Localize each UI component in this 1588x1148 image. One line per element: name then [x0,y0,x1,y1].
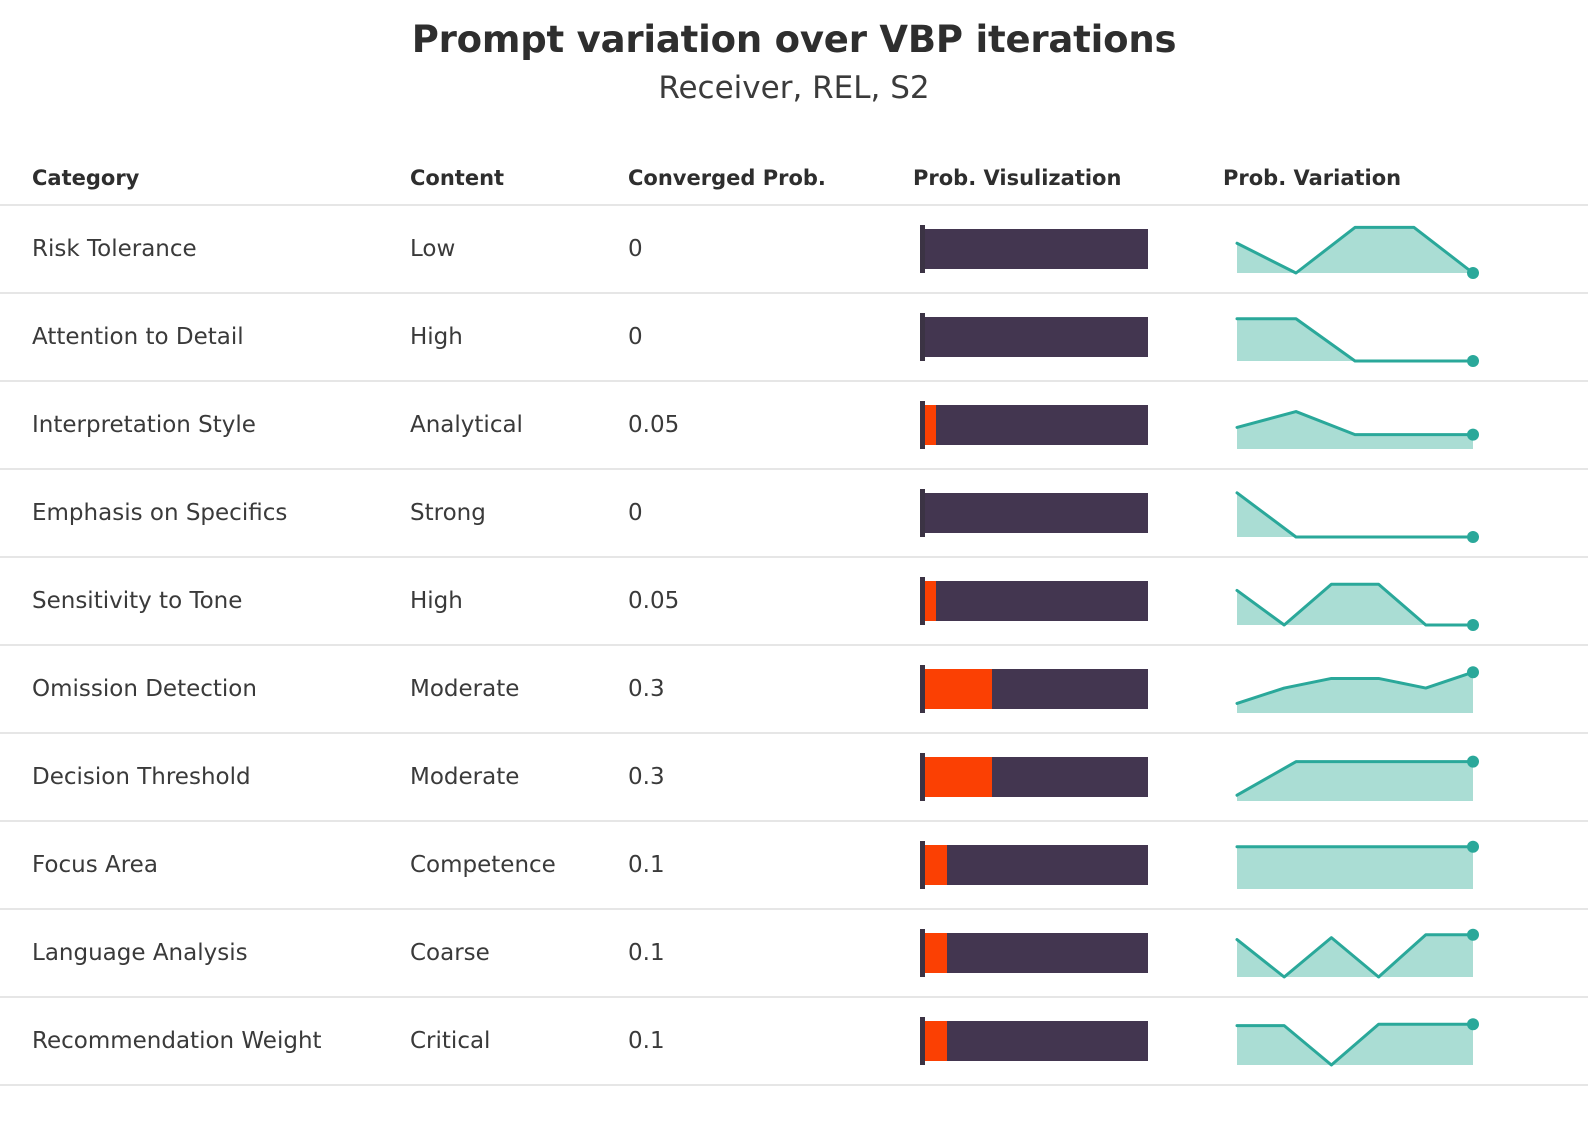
bar-segment-probability [925,845,947,885]
cell-converged-prob: 0 [628,236,913,262]
cell-prob-visualization [913,229,1223,269]
probability-bar [920,317,1148,357]
bar-segment-remaining [925,229,1148,269]
cell-prob-visualization [913,845,1223,885]
prompt-variation-table: Category Content Converged Prob. Prob. V… [0,144,1588,1086]
bar-track [925,1021,1148,1061]
sparkline-area [1237,227,1473,273]
cell-content: Moderate [410,764,628,790]
cell-prob-variation [1223,309,1553,365]
table-header-row: Category Content Converged Prob. Prob. V… [0,144,1588,206]
bar-segment-remaining [936,581,1148,621]
content-value: High [410,324,463,350]
bar-segment-remaining [936,405,1148,445]
cell-prob-visualization [913,493,1223,533]
cell-converged-prob: 0.1 [628,852,913,878]
cell-category: Decision Threshold [0,764,410,790]
cell-content: Strong [410,500,628,526]
variation-sparkline [1237,309,1473,365]
sparkline-area [1237,319,1473,361]
cell-content: High [410,324,628,350]
bar-track [925,757,1148,797]
bar-segment-probability [925,933,947,973]
header-cell-content: Content [410,166,628,204]
column-header-label: Category [32,166,139,190]
table-row: Language AnalysisCoarse0.1 [0,910,1588,998]
content-value: Coarse [410,940,490,966]
table-row: Sensitivity to ToneHigh0.05 [0,558,1588,646]
cell-prob-variation [1223,925,1553,981]
column-header-label: Prob. Visulization [913,166,1121,190]
cell-prob-variation [1223,661,1553,717]
table-row: Interpretation StyleAnalytical0.05 [0,382,1588,470]
sparkline-endpoint-dot [1467,666,1479,678]
converged-prob-value: 0.1 [628,852,665,878]
cell-prob-variation [1223,397,1553,453]
probability-bar [920,581,1148,621]
cell-category: Recommendation Weight [0,1028,410,1054]
table-row: Recommendation WeightCritical0.1 [0,998,1588,1086]
sparkline-area [1237,762,1473,801]
sparkline-endpoint-dot [1467,929,1479,941]
variation-sparkline [1237,749,1473,805]
content-value: High [410,588,463,614]
content-value: Moderate [410,764,519,790]
header-cell-category: Category [0,166,410,204]
cell-content: Coarse [410,940,628,966]
bar-track [925,581,1148,621]
cell-converged-prob: 0 [628,324,913,350]
probability-bar [920,845,1148,885]
converged-prob-value: 0.1 [628,940,665,966]
category-label: Recommendation Weight [32,1028,322,1054]
variation-sparkline [1237,397,1473,453]
sparkline-area [1237,847,1473,889]
variation-sparkline [1237,221,1473,277]
category-label: Interpretation Style [32,412,256,438]
sparkline-endpoint-dot [1467,841,1479,853]
cell-content: Low [410,236,628,262]
table-row: Omission DetectionModerate0.3 [0,646,1588,734]
cell-prob-variation [1223,485,1553,541]
cell-prob-variation [1223,1013,1553,1069]
bar-track [925,493,1148,533]
converged-prob-value: 0.3 [628,676,665,702]
table-row: Risk ToleranceLow0 [0,206,1588,294]
variation-sparkline [1237,1013,1473,1069]
converged-prob-value: 0 [628,500,643,526]
converged-prob-value: 0.05 [628,588,679,614]
cell-content: Analytical [410,412,628,438]
bar-segment-remaining [947,933,1148,973]
category-label: Emphasis on Specifics [32,500,287,526]
bar-segment-remaining [925,493,1148,533]
cell-converged-prob: 0.1 [628,940,913,966]
cell-content: Moderate [410,676,628,702]
category-label: Omission Detection [32,676,257,702]
probability-bar [920,493,1148,533]
cell-content: Critical [410,1028,628,1054]
probability-bar [920,669,1148,709]
category-label: Sensitivity to Tone [32,588,242,614]
variation-sparkline [1237,573,1473,629]
cell-converged-prob: 0.05 [628,412,913,438]
cell-prob-visualization [913,669,1223,709]
cell-converged-prob: 0.1 [628,1028,913,1054]
category-label: Focus Area [32,852,158,878]
page-subtitle: Receiver, REL, S2 [0,68,1588,108]
bar-segment-remaining [992,669,1148,709]
bar-segment-probability [925,405,936,445]
bar-segment-probability [925,757,992,797]
sparkline-area [1237,493,1473,537]
sparkline-endpoint-dot [1467,619,1479,631]
column-header-label: Converged Prob. [628,166,826,190]
bar-segment-remaining [947,1021,1148,1061]
content-value: Strong [410,500,486,526]
probability-bar [920,933,1148,973]
cell-prob-visualization [913,317,1223,357]
cell-category: Language Analysis [0,940,410,966]
bar-track [925,317,1148,357]
sparkline-endpoint-dot [1467,756,1479,768]
cell-prob-visualization [913,581,1223,621]
cell-category: Focus Area [0,852,410,878]
cell-content: High [410,588,628,614]
content-value: Low [410,236,455,262]
bar-track [925,669,1148,709]
sparkline-endpoint-dot [1467,267,1479,279]
table-row: Attention to DetailHigh0 [0,294,1588,382]
bar-segment-remaining [925,317,1148,357]
content-value: Competence [410,852,556,878]
cell-converged-prob: 0.3 [628,676,913,702]
cell-prob-visualization [913,757,1223,797]
header-cell-prob-variation: Prob. Variation [1223,166,1553,204]
cell-prob-visualization [913,405,1223,445]
bar-segment-probability [925,581,936,621]
content-value: Critical [410,1028,490,1054]
sparkline-endpoint-dot [1467,429,1479,441]
title-block: Prompt variation over VBP iterations Rec… [0,0,1588,108]
cell-category: Sensitivity to Tone [0,588,410,614]
column-header-label: Content [410,166,504,190]
cell-prob-variation [1223,749,1553,805]
bar-segment-remaining [992,757,1148,797]
content-value: Analytical [410,412,523,438]
chart-page: Prompt variation over VBP iterations Rec… [0,0,1588,1148]
converged-prob-value: 0.1 [628,1028,665,1054]
cell-converged-prob: 0.3 [628,764,913,790]
table-body: Risk ToleranceLow0Attention to DetailHig… [0,206,1588,1086]
page-title: Prompt variation over VBP iterations [0,18,1588,62]
category-label: Risk Tolerance [32,236,197,262]
header-cell-prob-visualization: Prob. Visulization [913,166,1223,204]
converged-prob-value: 0.3 [628,764,665,790]
converged-prob-value: 0 [628,236,643,262]
table-row: Focus AreaCompetence0.1 [0,822,1588,910]
cell-category: Emphasis on Specifics [0,500,410,526]
category-label: Language Analysis [32,940,248,966]
cell-prob-visualization [913,1021,1223,1061]
cell-prob-variation [1223,573,1553,629]
sparkline-endpoint-dot [1467,1018,1479,1030]
converged-prob-value: 0 [628,324,643,350]
cell-converged-prob: 0.05 [628,588,913,614]
bar-segment-remaining [947,845,1148,885]
sparkline-endpoint-dot [1467,355,1479,367]
table-row: Decision ThresholdModerate0.3 [0,734,1588,822]
table-row: Emphasis on SpecificsStrong0 [0,470,1588,558]
bar-track [925,229,1148,269]
variation-sparkline [1237,485,1473,541]
bar-track [925,933,1148,973]
converged-prob-value: 0.05 [628,412,679,438]
cell-category: Omission Detection [0,676,410,702]
probability-bar [920,229,1148,269]
cell-category: Risk Tolerance [0,236,410,262]
probability-bar [920,1021,1148,1061]
cell-content: Competence [410,852,628,878]
probability-bar [920,405,1148,445]
variation-sparkline [1237,837,1473,893]
cell-prob-visualization [913,933,1223,973]
cell-prob-variation [1223,221,1553,277]
header-cell-converged-prob: Converged Prob. [628,166,913,204]
cell-prob-variation [1223,837,1553,893]
bar-segment-probability [925,669,992,709]
column-header-label: Prob. Variation [1223,166,1401,190]
cell-category: Interpretation Style [0,412,410,438]
bar-track [925,845,1148,885]
cell-category: Attention to Detail [0,324,410,350]
sparkline-area [1237,584,1473,625]
content-value: Moderate [410,676,519,702]
category-label: Decision Threshold [32,764,251,790]
bar-segment-probability [925,1021,947,1061]
cell-converged-prob: 0 [628,500,913,526]
variation-sparkline [1237,925,1473,981]
bar-track [925,405,1148,445]
variation-sparkline [1237,661,1473,717]
sparkline-endpoint-dot [1467,531,1479,543]
category-label: Attention to Detail [32,324,244,350]
probability-bar [920,757,1148,797]
